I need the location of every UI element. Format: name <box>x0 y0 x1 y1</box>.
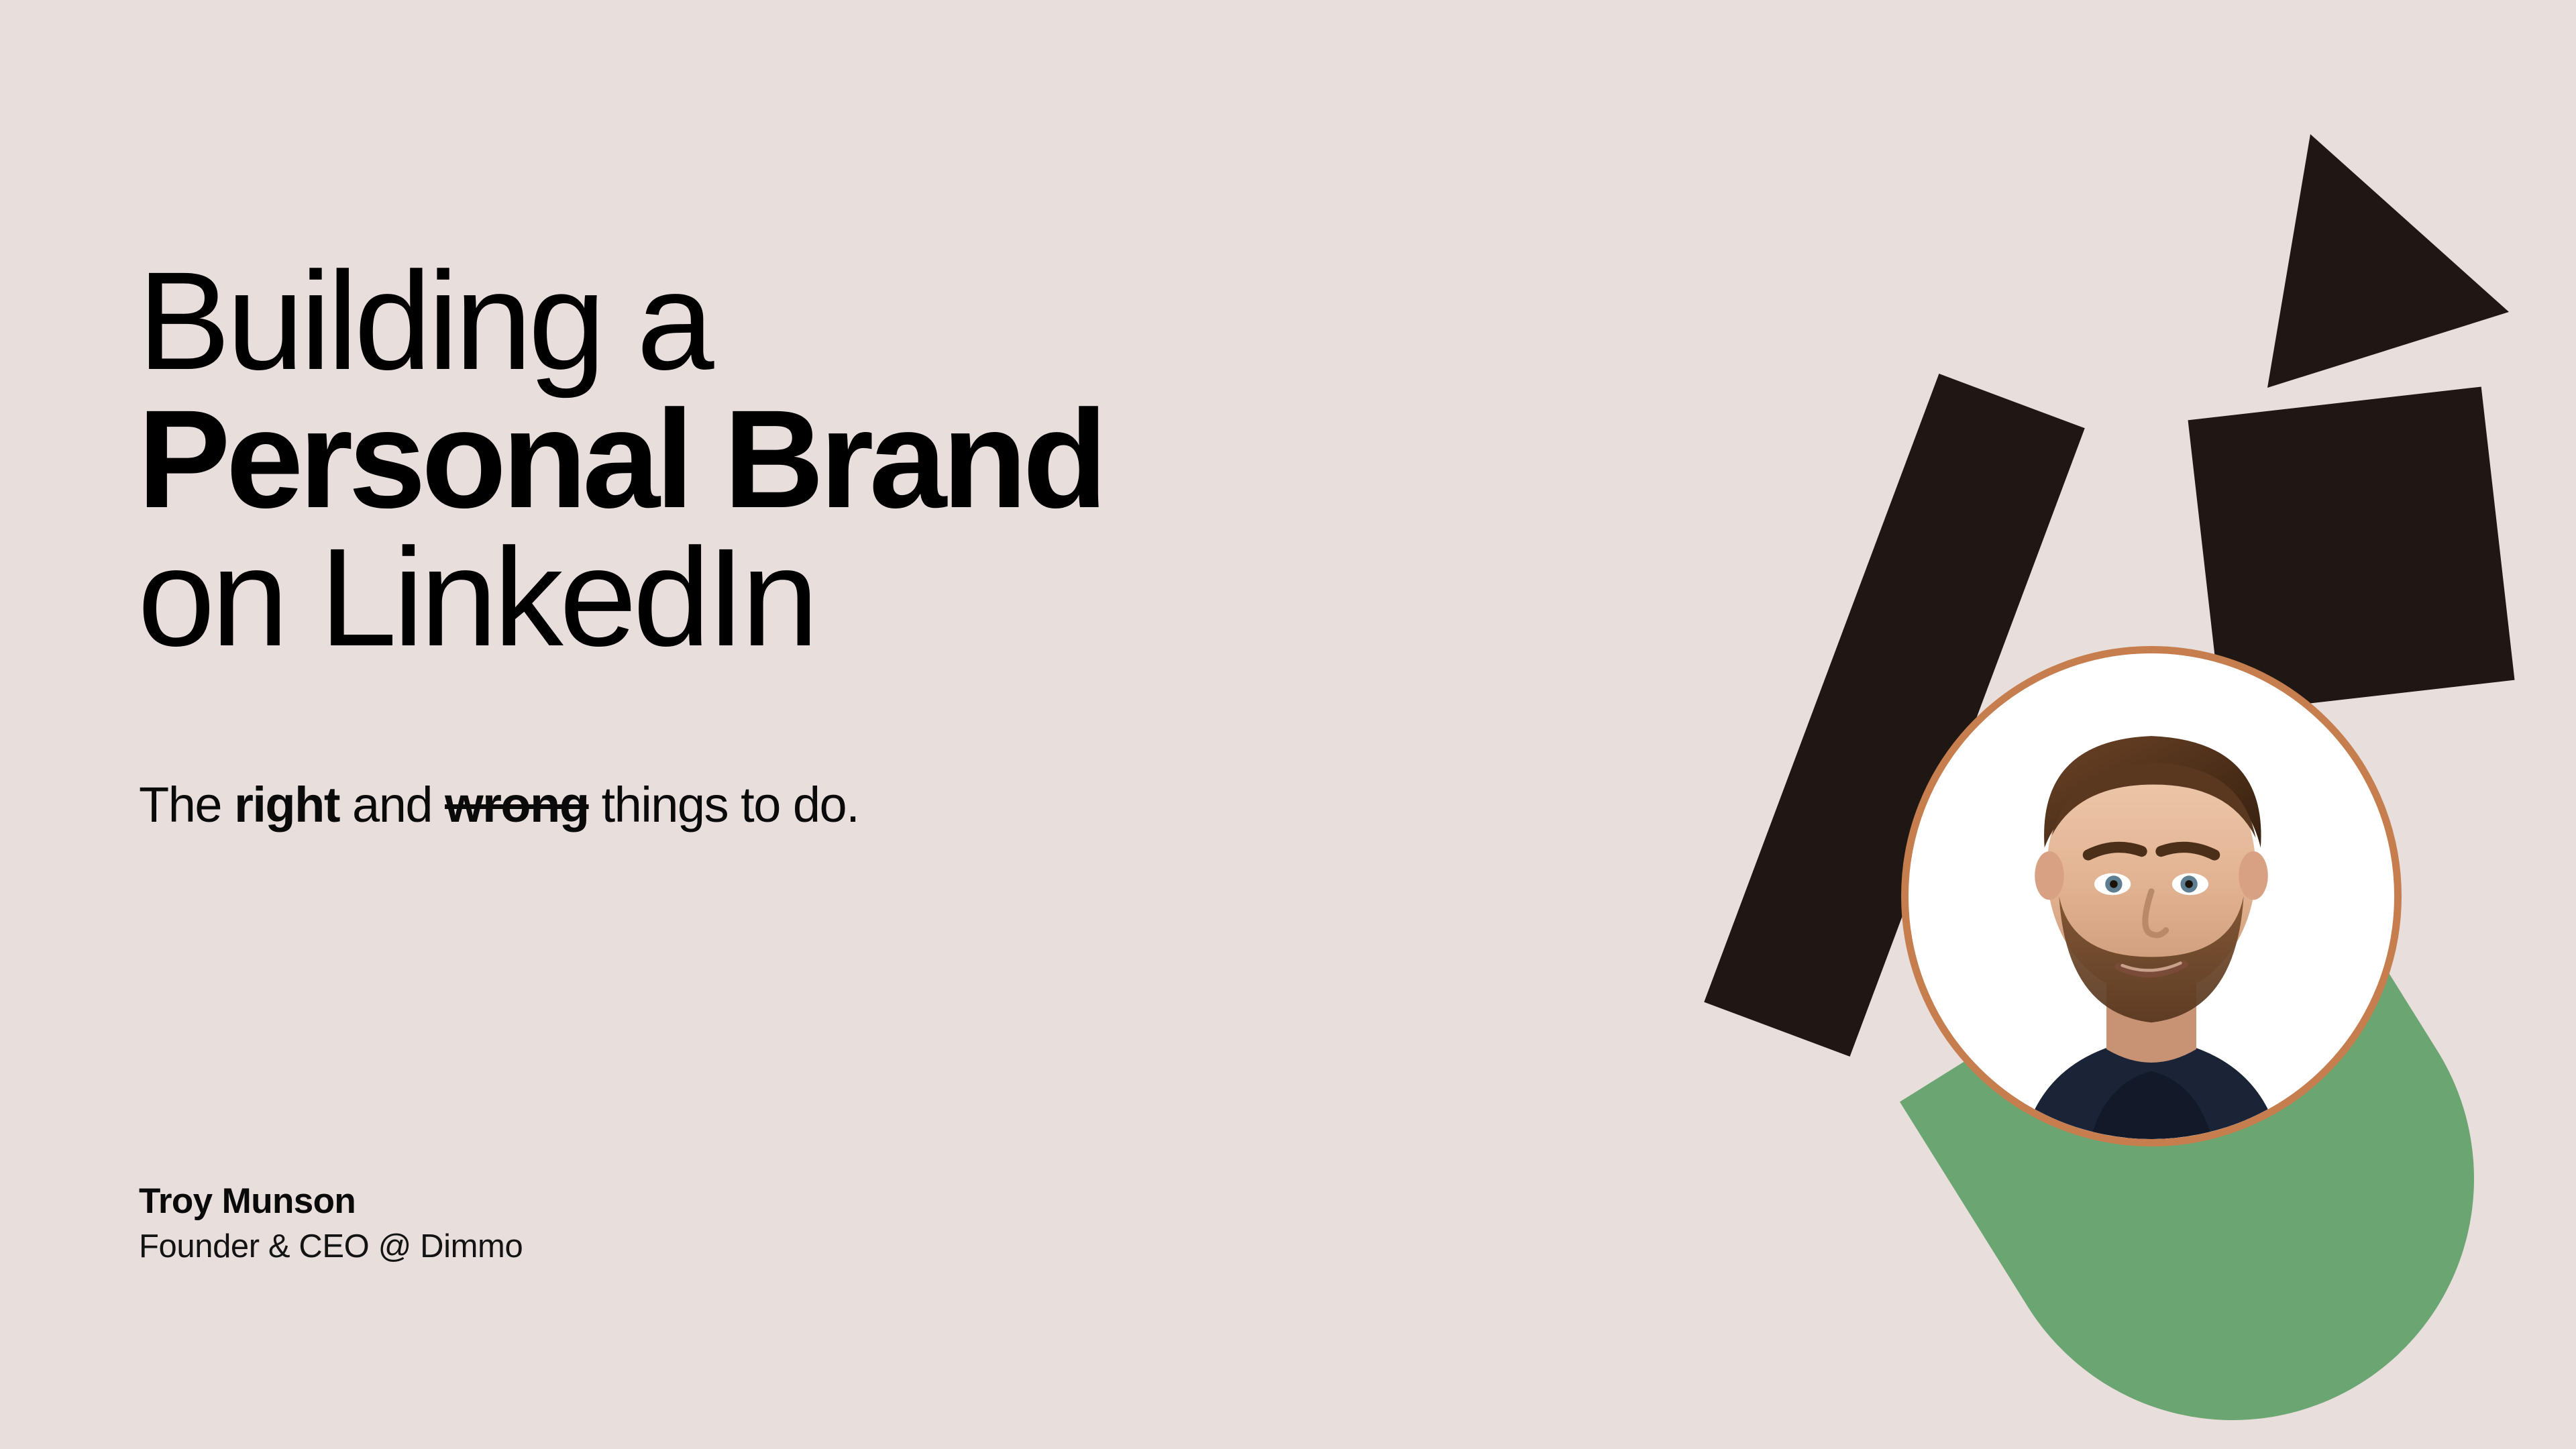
headline-line-3: on LinkedIn <box>138 529 1613 667</box>
speaker-role: Founder & CEO @ Dimmo <box>139 1227 523 1267</box>
subtitle: The right and wrong things to do. <box>139 776 859 833</box>
page-title: Building a Personal Brand on LinkedIn <box>138 253 1613 667</box>
headline-line-2: Personal Brand <box>138 391 1613 529</box>
subtitle-struck-word: wrong <box>445 777 588 833</box>
subtitle-suffix: things to do. <box>589 777 859 833</box>
text-column: Building a Personal Brand on LinkedIn Th… <box>138 0 1613 1449</box>
triangle-icon <box>2267 134 2549 402</box>
speaker-credit: Troy Munson Founder & CEO @ Dimmo <box>139 1181 523 1267</box>
subtitle-middle: and <box>339 777 445 833</box>
subtitle-prefix: The <box>139 777 234 833</box>
speaker-avatar <box>1901 646 2402 1146</box>
headline-line-1: Building a <box>138 253 1613 391</box>
speaker-portrait-photo <box>1909 653 2394 1139</box>
presentation-slide: Building a Personal Brand on LinkedIn Th… <box>0 0 2576 1449</box>
triangle-shape <box>2267 134 2549 402</box>
subtitle-emphasis: right <box>234 777 339 833</box>
speaker-name: Troy Munson <box>139 1181 523 1223</box>
